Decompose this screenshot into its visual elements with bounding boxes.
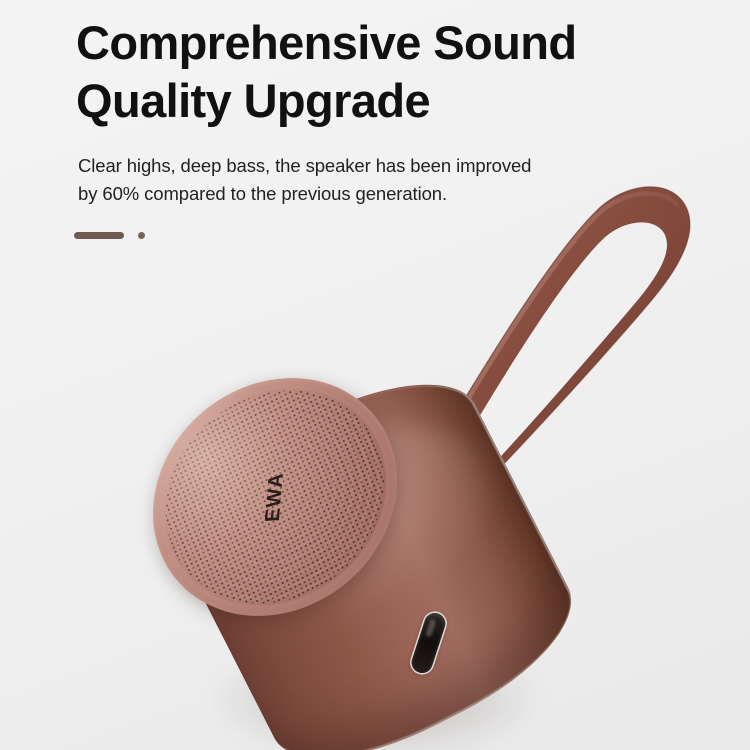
speaker-body-side (153, 349, 597, 750)
grille-concentric-rings (134, 352, 417, 642)
grille-sheen (117, 335, 432, 658)
strap-outline (425, 187, 690, 514)
slide-indicator-active-bar[interactable] (74, 232, 124, 239)
product-shadow (210, 640, 540, 750)
speaker-grille-face: EWA (117, 335, 432, 658)
brand-logo: EWA (261, 472, 289, 523)
product-marketing-slide: Comprehensive Sound Quality Upgrade Clea… (0, 0, 750, 750)
slide-indicator-dot[interactable] (138, 232, 145, 239)
slide-indicator[interactable] (74, 232, 145, 239)
strap-slot (446, 222, 667, 499)
grille-rim-band (117, 335, 432, 658)
strap-highlight (437, 193, 677, 450)
page-subtitle: Clear highs, deep bass, the speaker has … (78, 152, 678, 208)
grille-plate (117, 335, 432, 658)
usb-c-port (409, 610, 448, 675)
speaker-body (135, 315, 598, 750)
strap-mount-tab (404, 399, 482, 452)
page-title: Comprehensive Sound Quality Upgrade (76, 14, 676, 130)
speaker-body-rim-highlight (155, 351, 596, 750)
grille-perforation-texture (134, 352, 417, 642)
